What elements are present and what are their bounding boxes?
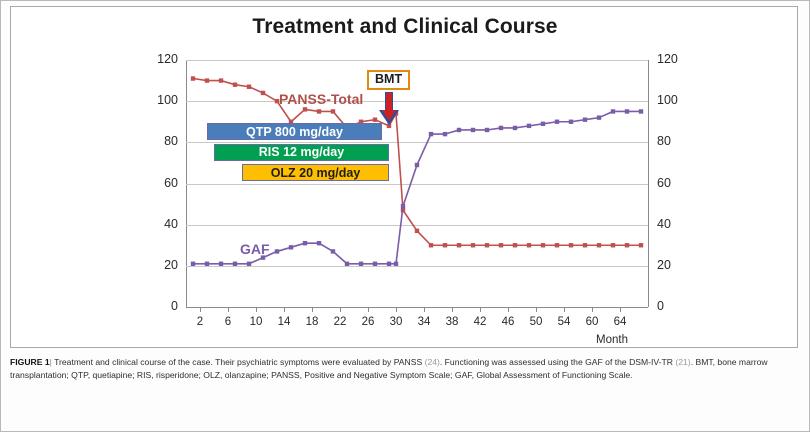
data-point — [541, 243, 545, 247]
data-point — [457, 243, 461, 247]
data-point — [611, 109, 615, 113]
y-tick-right-80: 80 — [657, 134, 691, 148]
data-point — [331, 249, 335, 253]
caption-label: FIGURE 1 — [10, 357, 50, 367]
x-tick-mark — [536, 307, 537, 312]
y-tick-left-100: 100 — [144, 93, 178, 107]
y-tick-left-120: 120 — [144, 52, 178, 66]
x-tick-mark — [564, 307, 565, 312]
x-tick-mark — [284, 307, 285, 312]
series-overlay — [186, 60, 648, 307]
data-point — [485, 243, 489, 247]
data-point — [394, 262, 398, 266]
x-tick-label-22: 22 — [326, 316, 354, 328]
chart-title: Treatment and Clinical Course — [11, 15, 799, 39]
data-point — [625, 243, 629, 247]
data-point — [415, 229, 419, 233]
data-point — [191, 262, 195, 266]
caption-ref-2: (21) — [675, 357, 690, 367]
data-point — [485, 128, 489, 132]
data-point — [373, 117, 377, 121]
data-point — [499, 126, 503, 130]
x-tick-label-14: 14 — [270, 316, 298, 328]
data-point — [303, 107, 307, 111]
data-point — [247, 262, 251, 266]
x-tick-label-42: 42 — [466, 316, 494, 328]
data-point — [261, 91, 265, 95]
y-tick-left-20: 20 — [144, 258, 178, 272]
x-tick-mark — [396, 307, 397, 312]
data-point — [429, 132, 433, 136]
data-point — [569, 243, 573, 247]
x-tick-label-30: 30 — [382, 316, 410, 328]
y-tick-right-0: 0 — [657, 299, 691, 313]
x-tick-label-38: 38 — [438, 316, 466, 328]
data-point — [219, 262, 223, 266]
series-line-panss-total — [193, 79, 641, 246]
x-tick-label-46: 46 — [494, 316, 522, 328]
data-point — [289, 245, 293, 249]
data-point — [597, 115, 601, 119]
drug-bar-ris: RIS 12 mg/day — [214, 144, 389, 161]
data-point — [317, 109, 321, 113]
x-tick-mark — [340, 307, 341, 312]
data-point — [527, 243, 531, 247]
x-tick-label-26: 26 — [354, 316, 382, 328]
x-tick-mark — [592, 307, 593, 312]
x-tick-mark — [200, 307, 201, 312]
data-point — [597, 243, 601, 247]
drug-bar-qtp: QTP 800 mg/day — [207, 123, 382, 140]
data-point — [303, 241, 307, 245]
y-tick-right-120: 120 — [657, 52, 691, 66]
x-axis-title: Month — [596, 334, 628, 346]
plot-area — [186, 60, 648, 307]
data-point — [429, 243, 433, 247]
x-tick-mark — [480, 307, 481, 312]
x-tick-label-6: 6 — [214, 316, 242, 328]
data-point — [541, 122, 545, 126]
data-point — [555, 120, 559, 124]
data-point — [345, 262, 349, 266]
panss-series-label: PANSS-Total — [279, 91, 363, 107]
caption-ref-1: (24) — [425, 357, 440, 367]
data-point — [639, 243, 643, 247]
y-tick-left-40: 40 — [144, 217, 178, 231]
data-point — [611, 243, 615, 247]
x-tick-mark — [228, 307, 229, 312]
x-tick-label-18: 18 — [298, 316, 326, 328]
x-tick-label-60: 60 — [578, 316, 606, 328]
x-tick-label-2: 2 — [186, 316, 214, 328]
data-point — [527, 124, 531, 128]
x-tick-mark — [256, 307, 257, 312]
data-point — [219, 78, 223, 82]
y-tick-right-20: 20 — [657, 258, 691, 272]
data-point — [331, 109, 335, 113]
data-point — [443, 132, 447, 136]
x-tick-label-54: 54 — [550, 316, 578, 328]
data-point — [555, 243, 559, 247]
data-point — [569, 120, 573, 124]
y-tick-right-40: 40 — [657, 217, 691, 231]
data-point — [513, 126, 517, 130]
x-tick-mark — [424, 307, 425, 312]
data-point — [625, 109, 629, 113]
data-point — [359, 262, 363, 266]
data-point — [471, 243, 475, 247]
x-tick-mark — [312, 307, 313, 312]
data-point — [499, 243, 503, 247]
x-tick-mark — [368, 307, 369, 312]
x-tick-label-10: 10 — [242, 316, 270, 328]
data-point — [513, 243, 517, 247]
data-point — [233, 262, 237, 266]
x-tick-mark — [452, 307, 453, 312]
x-tick-mark — [620, 307, 621, 312]
data-point — [191, 76, 195, 80]
data-point — [205, 262, 209, 266]
data-point — [373, 262, 377, 266]
data-point — [443, 243, 447, 247]
data-point — [583, 117, 587, 121]
y-tick-left-80: 80 — [144, 134, 178, 148]
y-tick-left-0: 0 — [144, 299, 178, 313]
x-tick-label-34: 34 — [410, 316, 438, 328]
data-point — [247, 85, 251, 89]
axis-line-right — [648, 60, 649, 307]
caption-text-1: Treatment and clinical course of the cas… — [52, 357, 425, 367]
data-point — [471, 128, 475, 132]
data-point — [233, 83, 237, 87]
data-point — [387, 262, 391, 266]
y-tick-right-60: 60 — [657, 176, 691, 190]
data-point — [205, 78, 209, 82]
chart-panel: Treatment and Clinical Course 0204060801… — [10, 6, 798, 348]
data-point — [639, 109, 643, 113]
data-point — [457, 128, 461, 132]
data-point — [583, 243, 587, 247]
data-point — [401, 204, 405, 208]
drug-bar-olz: OLZ 20 mg/day — [242, 164, 389, 181]
figure-page: Treatment and Clinical Course 0204060801… — [0, 0, 810, 432]
data-point — [415, 163, 419, 167]
figure-caption: FIGURE 1| Treatment and clinical course … — [10, 356, 798, 382]
x-tick-label-64: 64 — [606, 316, 634, 328]
bmt-label-box: BMT — [367, 70, 410, 90]
x-tick-mark — [508, 307, 509, 312]
data-point — [317, 241, 321, 245]
x-tick-label-50: 50 — [522, 316, 550, 328]
y-tick-left-60: 60 — [144, 176, 178, 190]
bmt-arrow-icon — [378, 92, 400, 126]
caption-text-2: . Functioning was assessed using the GAF… — [440, 357, 675, 367]
y-tick-right-100: 100 — [657, 93, 691, 107]
data-point — [275, 249, 279, 253]
gaf-series-label: GAF — [240, 241, 270, 257]
